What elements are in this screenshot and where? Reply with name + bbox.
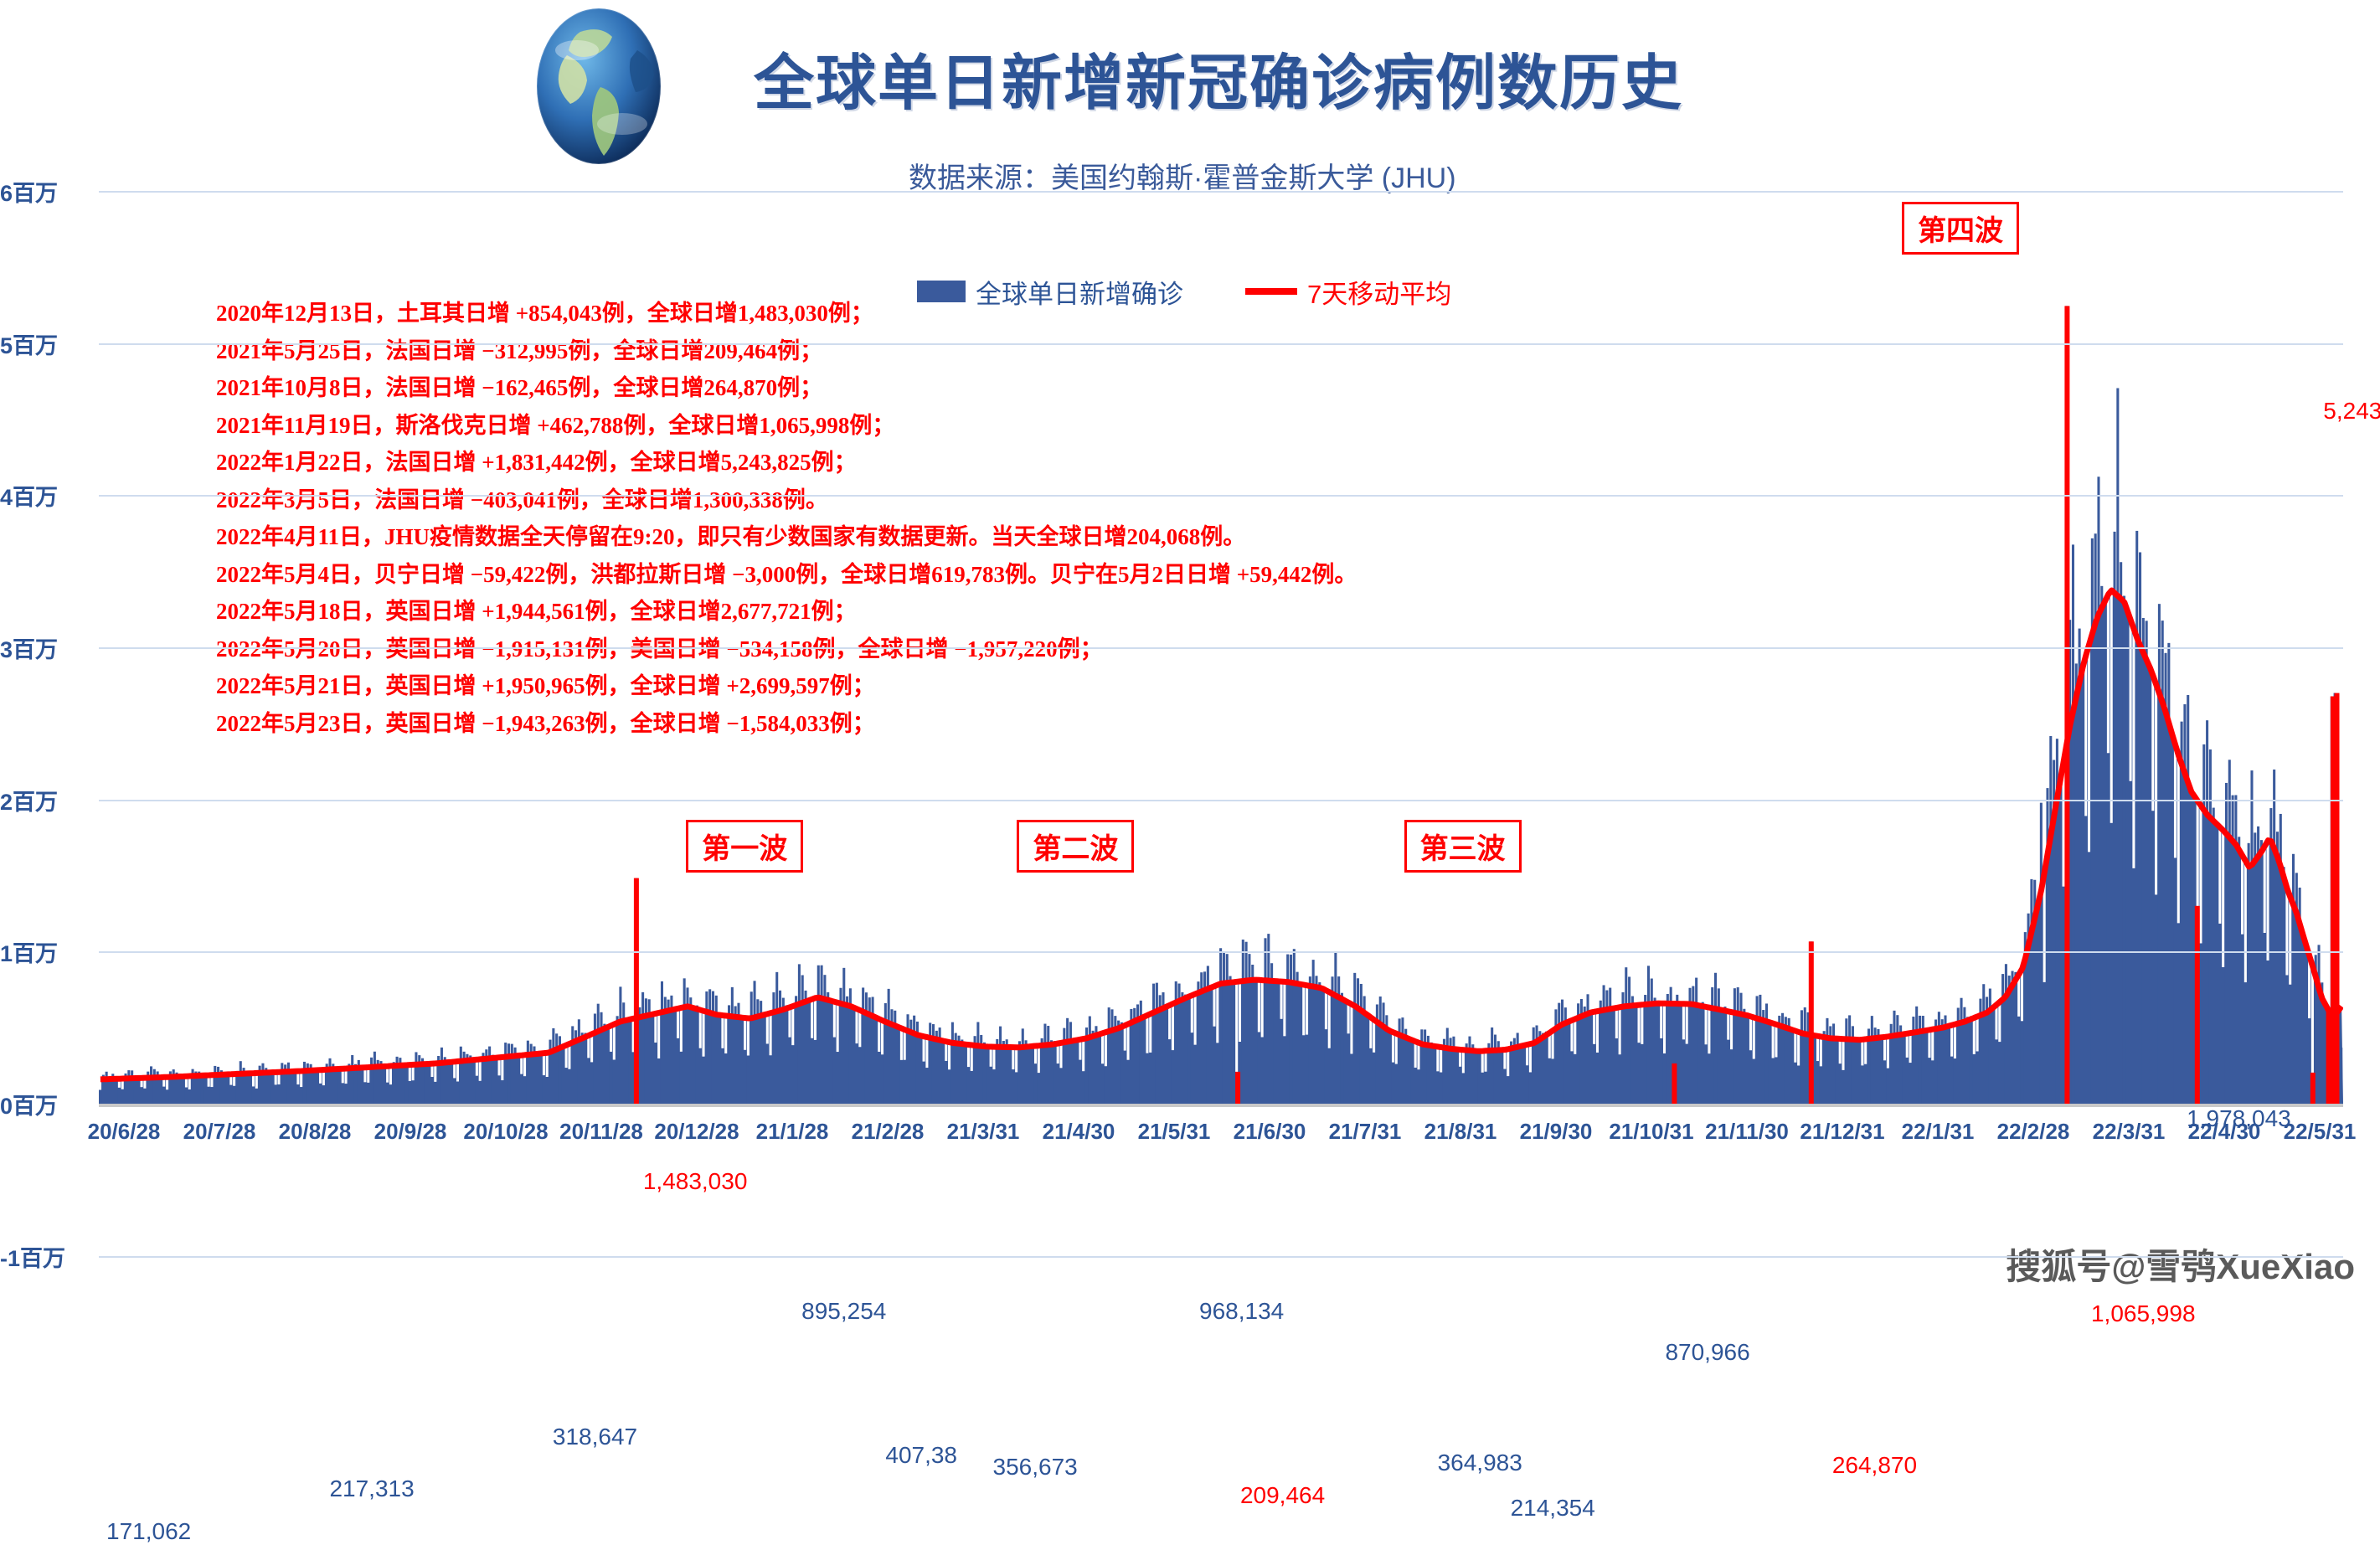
bar [992,1069,995,1104]
bar [2148,690,2151,1104]
bar [654,1043,657,1104]
bar [948,1069,950,1104]
bar-gap [971,1045,973,1071]
bar [721,1048,724,1104]
bar-gap [1436,1047,1439,1071]
bar [2135,531,2138,1104]
bar [2017,1017,2020,1104]
bar-gap [1931,1029,1934,1060]
bar [277,1084,280,1104]
bar [1293,949,1296,1104]
bar [1092,1031,1095,1104]
bar [498,1075,501,1104]
bar [1529,1072,1532,1104]
x-tick-label: 21/7/31 [1329,1119,1402,1145]
x-tick-label: 20/10/28 [463,1119,548,1145]
bar [1941,1019,1944,1104]
bar [1503,1069,1506,1104]
bar-gap [1392,1033,1394,1063]
bar [1654,997,1656,1104]
bar-gap [1306,986,1308,1035]
bar [1417,1069,1419,1104]
bar [1325,1029,1327,1104]
bar [734,1007,737,1105]
bar-gap [1954,1024,1956,1058]
bar [1226,954,1229,1104]
bar [434,1082,436,1104]
bar [1059,1068,1062,1104]
annotation-spike [1809,941,1814,1104]
bar [511,1044,513,1104]
bar-gap [724,1016,727,1053]
bar [2264,933,2266,1104]
bar [342,1083,344,1104]
bar [501,1080,503,1104]
bar-gap [1373,1020,1375,1053]
bar [1612,1019,1615,1104]
data-point-label: 209,464 [1233,1480,1332,1512]
bar-gap [2285,889,2288,976]
bar-gap [1239,981,1241,1042]
bar [837,1052,839,1104]
bar [162,1087,165,1104]
bar-gap [610,1026,612,1052]
bar [590,1062,593,1104]
bar [1861,1065,1863,1104]
bar-gap [744,1018,746,1050]
bar [689,997,692,1104]
bar [1028,1044,1030,1104]
x-tick-label: 21/2/28 [852,1119,925,1145]
bar-gap [1485,1051,1487,1072]
bar [1069,1022,1072,1104]
gridline [99,1256,2343,1258]
bar [1896,1015,1898,1104]
bar [127,1070,130,1104]
bar [1117,1021,1120,1104]
bar [1561,1000,1563,1104]
bar [2158,604,2161,1104]
bar [527,1041,529,1104]
bar [1057,1063,1059,1104]
watermark: 搜狐号@雪鸮XueXiao [2006,1239,2355,1290]
bar [447,1062,450,1104]
bar [1110,1009,1113,1104]
bar [214,1066,216,1104]
bar [118,1088,121,1104]
bar [1756,996,1759,1104]
bar [1698,1004,1701,1104]
bar [338,1073,341,1104]
data-point-label: 264,870 [1825,1450,1924,1481]
bar [2123,596,2125,1104]
bar [1663,1053,1666,1104]
bar [814,1040,817,1104]
bar [1625,967,1627,1104]
bar [328,1058,331,1104]
bar [750,991,753,1104]
bar [597,1004,600,1104]
bar [900,1060,903,1104]
bar [291,1072,293,1104]
bar [1721,1011,1723,1104]
bar [2206,720,2208,1104]
bar [430,1077,433,1104]
bar [708,989,711,1104]
x-tick-label: 22/5/31 [2284,1119,2357,1145]
bar [1552,1058,1554,1104]
bar [728,1005,730,1104]
bar [1002,1041,1005,1104]
bar [1446,1028,1449,1104]
bar [657,1058,660,1104]
bar [182,1076,184,1104]
bar [1043,1024,1046,1104]
bar [2218,924,2221,1104]
bar [1893,1011,1895,1104]
bar [763,1017,765,1104]
bar [536,1054,538,1104]
bar [141,1087,143,1104]
bar [1494,1035,1497,1104]
bar [1800,1010,1803,1104]
bar [296,1084,299,1104]
bar [610,1052,612,1104]
bar-gap [703,1011,705,1056]
bar-gap [2289,898,2291,985]
annotation-note: 2022年4月11日，JHU疫情数据全天停留在9:20，即只有少数国家有数据更新… [216,518,1556,556]
bar-gap [1906,1033,1909,1058]
bar-gap [680,1007,683,1051]
bar-gap [1928,1030,1930,1058]
bar [2244,982,2247,1104]
bar [453,1078,456,1104]
bar [2107,753,2110,1104]
bar [1280,1019,1283,1104]
bar [1395,1064,1398,1104]
y-tick-label: 0百万 [0,1088,90,1120]
bar [1172,1050,1174,1104]
bar-gap [677,1008,679,1038]
bar [1501,1050,1503,1104]
bar-gap [2021,969,2023,1022]
bar-gap [1127,1024,1130,1060]
bar [1746,1018,1749,1104]
bar [319,1084,322,1104]
bar [1950,1057,1953,1104]
bar-gap [1574,1019,1576,1054]
bar-gap [568,1043,570,1069]
bar [1522,1053,1525,1104]
bar [1018,1041,1021,1104]
y-tick-label: 4百万 [0,479,90,512]
bar-gap [1950,1025,1953,1057]
bar [1820,1066,1822,1104]
annotation-spike [2064,306,2069,1104]
bar [1714,973,1717,1104]
bar [1149,1053,1151,1104]
bar [1667,994,1669,1104]
bar [224,1074,226,1104]
bar [1475,1051,1477,1104]
bar [1730,1049,1733,1104]
bar [683,978,686,1104]
bar [2213,808,2215,1104]
bar [2171,760,2173,1104]
bar [1274,981,1276,1104]
bar-gap [811,999,813,1038]
bar [581,1033,584,1104]
bar [1210,985,1213,1104]
data-source-subtitle: 数据来源：美国约翰斯·霍普金斯大学 (JHU) [909,155,1456,196]
bar [1970,1016,1972,1104]
bar-gap [1619,1007,1621,1055]
bar [2216,847,2218,1104]
bar [1108,1007,1110,1104]
bar-gap [1686,1004,1688,1044]
bar [1790,1028,1793,1104]
bar [2081,706,2084,1104]
bar [594,1013,596,1104]
bar [2139,553,2141,1104]
bar [881,1054,883,1104]
bar [137,1080,140,1104]
bar [2072,544,2074,1104]
bar [2049,736,2052,1104]
bar-gap [791,1006,794,1045]
bar [2005,964,2007,1104]
x-tick-label: 21/1/28 [756,1119,829,1145]
bar [229,1085,232,1104]
bar [1574,1054,1576,1104]
bar [888,989,890,1104]
bar-gap [1708,1007,1710,1053]
page-title: 全球单日新增新冠确诊病例数历史 [754,33,1683,121]
bar-gap [1012,1048,1014,1069]
bar [2040,803,2043,1104]
bar-gap [1596,1012,1599,1053]
bar [517,1055,519,1104]
bar [1286,955,1289,1104]
bar [1411,1043,1414,1104]
bar-gap [2177,756,2180,924]
legend-line-swatch-icon [1245,288,1297,295]
annotation-spike [634,878,639,1104]
x-tick-label: 21/6/30 [1234,1119,1306,1145]
bar [613,1060,616,1105]
x-tick-label: 20/8/28 [279,1119,352,1145]
bar [1769,1020,1771,1104]
annotation-note: 2022年5月23日，英国日增 −1,943,263例，全球日增 −1,584,… [216,705,1556,743]
bar [1647,966,1650,1104]
x-tick-label: 22/1/31 [1902,1119,1975,1145]
bar [2014,972,2017,1104]
bar [450,1060,452,1104]
bar [425,1062,427,1104]
bar [335,1069,337,1104]
bar [1401,1017,1404,1104]
bar-gap [2107,594,2110,753]
bar [1536,1025,1538,1104]
bar [1251,965,1254,1104]
bar [874,1026,877,1104]
data-point-label: 895,254 [801,1298,886,1325]
bar-gap [1216,985,1218,1043]
bar-gap [1570,1020,1573,1051]
bar [1507,1076,1509,1104]
bar [539,1058,542,1104]
bar-gap [837,1002,839,1052]
bar [2305,966,2307,1104]
bar [1478,1053,1481,1104]
bar [1723,1007,1726,1104]
annotation-note: 2021年11月19日，斯洛伐克日增 +462,788例，全球日增1,065,9… [216,407,1556,445]
bar-gap [833,1002,836,1037]
bar-gap [1328,992,1331,1048]
bar [361,1073,363,1104]
bar [1631,997,1634,1104]
bar [555,1033,558,1104]
bar-gap [2088,644,2090,852]
bar [1261,1038,1264,1104]
bar-gap [2151,676,2154,811]
bar [853,1017,855,1104]
bar [1481,1073,1484,1104]
bar-gap [1105,1032,1107,1066]
bar [1638,1043,1641,1104]
bar [1012,1069,1014,1104]
bar [271,1076,274,1104]
bar [1679,1002,1682,1104]
bar [1347,1033,1350,1104]
bar [2269,808,2272,1104]
bar [971,1071,973,1104]
x-tick-label: 20/11/28 [559,1119,643,1145]
bar [1290,955,1292,1104]
annotation-note: 2022年5月4日，贝宁日增 −59,422例，洪都拉斯日增 −3,000例，全… [216,556,1556,594]
bar-gap [747,1018,750,1055]
bar-gap [1839,1038,1842,1063]
bar-gap [1641,1005,1643,1044]
bar [1462,1073,1465,1104]
bar [1485,1072,1487,1104]
bar [2104,653,2106,1104]
bar [945,1061,947,1104]
x-tick-label: 21/8/31 [1424,1119,1497,1145]
bar [846,997,848,1104]
bar [1651,979,1653,1105]
bar [2084,816,2087,1104]
bar [2209,749,2212,1104]
bar [1931,1060,1934,1104]
bar [1341,993,1343,1104]
bar [1603,985,1605,1104]
earth-globe-icon [490,7,708,166]
bar [1887,1069,1889,1104]
bar [1992,1020,1995,1104]
bar [951,1022,954,1104]
gridline [99,495,2343,497]
bar [268,1071,270,1104]
bar [1600,1001,1602,1104]
bar [2088,852,2090,1104]
bar [1312,960,1315,1104]
bar [811,1038,813,1104]
data-point-label: 1,978,043 [2187,1105,2291,1132]
bar [488,1047,491,1104]
bar-gap [904,1030,906,1060]
bar [1641,1044,1643,1104]
y-tick-label: 5百万 [0,327,90,360]
bar [1554,1009,1557,1104]
bar-gap [523,1055,526,1076]
data-point-label: 364,983 [1438,1450,1522,1476]
bar [1383,1002,1385,1104]
bar [1823,1031,1826,1104]
bar [1468,1037,1471,1104]
bar-gap [1124,1025,1126,1050]
bar [1711,987,1713,1104]
bar [1925,1031,1928,1104]
y-tick-label: 6百万 [0,175,90,208]
bar [1947,1037,1950,1104]
bar [1299,999,1301,1104]
bar-gap [1861,1039,1863,1065]
bar [1545,1032,1548,1104]
bar [865,992,868,1104]
bar [2155,894,2157,1104]
bar [188,1089,191,1104]
bar-gap [1146,1015,1148,1053]
bar [115,1080,117,1104]
bar [1864,1064,1867,1104]
bar [754,981,756,1104]
bar [1219,948,1222,1104]
annotation-note: 2021年5月25日，法国日增 −312,995例，全球日增209,464例； [216,332,1556,370]
bar [976,1022,979,1104]
bar [1034,1063,1037,1104]
bar [923,1062,925,1104]
bar [1548,1058,1551,1104]
bar-gap [788,1007,791,1038]
bar [1296,972,1299,1104]
bar [1743,1009,1745,1104]
x-tick-label: 22/3/31 [2093,1119,2166,1145]
bar [740,1021,743,1104]
bar [1966,1017,1969,1104]
annotation-notes-block: 2020年12月13日，土耳其日增 +854,043例，全球日增1,483,03… [216,295,1556,742]
bar [629,1022,631,1104]
bar [1229,976,1232,1104]
bar [363,1082,366,1104]
bar-gap [1168,1005,1171,1039]
bar-gap [1191,995,1193,1033]
bar [2267,960,2269,1104]
bar-gap [2222,831,2224,967]
bar [2142,618,2145,1104]
x-tick-label: 21/12/31 [1800,1119,1884,1145]
x-tick-label: 21/11/30 [1705,1119,1789,1145]
bar [626,1020,628,1104]
bar [920,1041,922,1104]
bar [1976,1051,1979,1104]
bar [1686,1044,1688,1104]
bar [1022,1028,1024,1104]
bar [1143,1018,1146,1104]
bar [153,1069,156,1104]
bar [367,1083,369,1104]
bar [1079,1060,1081,1104]
